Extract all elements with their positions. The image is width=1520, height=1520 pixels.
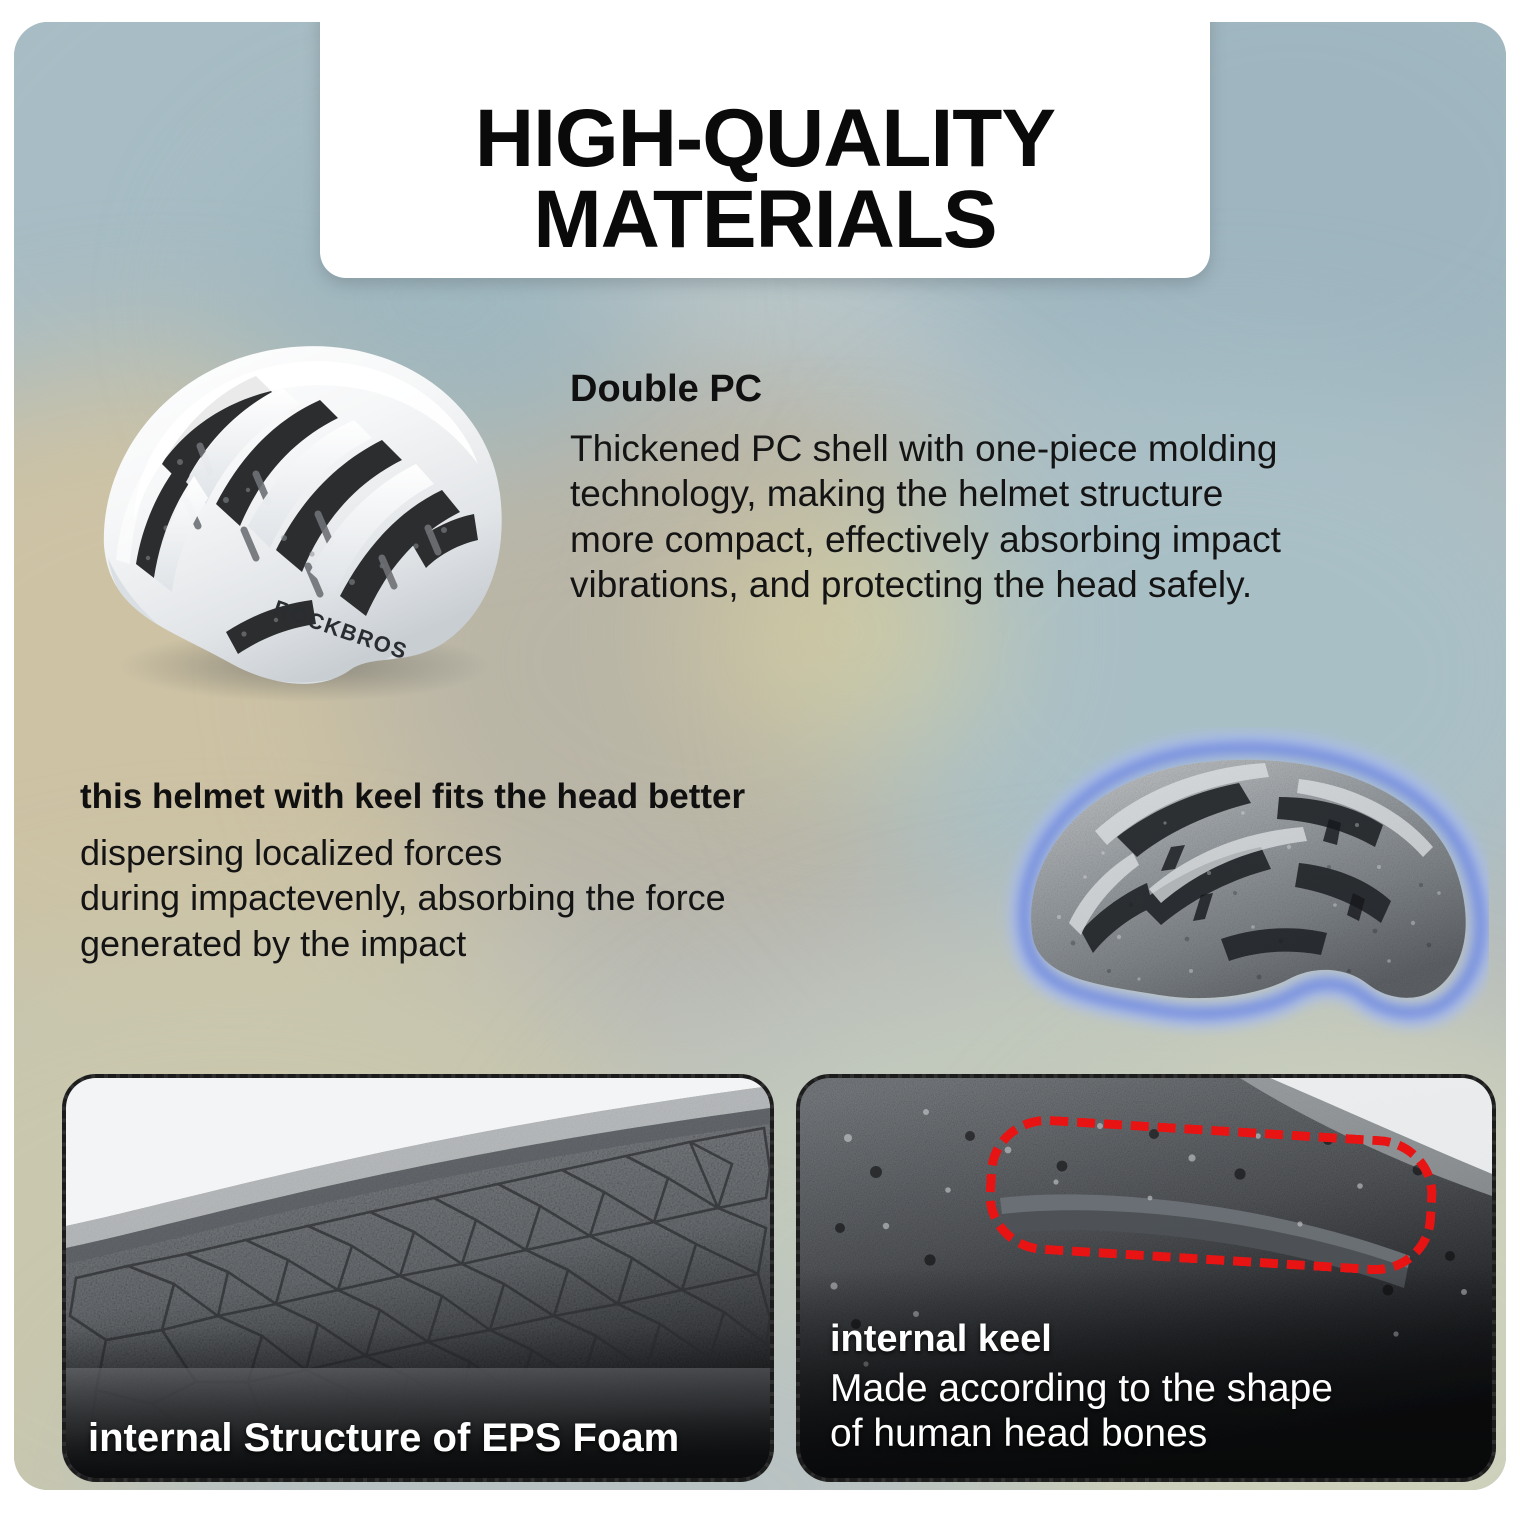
- title-banner: HIGH-QUALITY MATERIALS: [320, 22, 1210, 278]
- internal-keel-caption-body: Made according to the shape of human hea…: [830, 1366, 1333, 1456]
- internal-keel-caption-line-2: of human head bones: [830, 1411, 1333, 1456]
- panel-eps-foam: internal Structure of EPS Foam: [62, 1074, 774, 1482]
- keel-body-line-2: during impactevenly, absorbing the force: [80, 875, 980, 921]
- eps-foam-caption: internal Structure of EPS Foam: [88, 1416, 679, 1460]
- panel-internal-keel: internal keel Made according to the shap…: [796, 1074, 1496, 1482]
- double-pc-body: Thickened PC shell with one-piece moldin…: [570, 426, 1470, 608]
- keel-body: dispersing localized forces during impac…: [80, 830, 980, 967]
- keel-body-line-3: generated by the impact: [80, 921, 980, 967]
- double-pc-body-line-2: technology, making the helmet structure: [570, 471, 1470, 517]
- infographic-card: HIGH-QUALITY MATERIALS: [14, 22, 1506, 1490]
- double-pc-body-line-4: vibrations, and protecting the head safe…: [570, 562, 1470, 608]
- internal-keel-caption-title: internal keel: [830, 1318, 1333, 1362]
- keel-heading: this helmet with keel fits the head bett…: [80, 779, 980, 816]
- keel-highlight-ellipse: [982, 1112, 1440, 1277]
- white-helmet-image: ROCKBROS: [76, 314, 526, 704]
- eps-foam-caption-title: internal Structure of EPS Foam: [88, 1416, 679, 1460]
- page-title-line-1: HIGH-QUALITY: [475, 99, 1055, 179]
- page-title-line-2: MATERIALS: [533, 180, 996, 260]
- internal-keel-caption: internal keel Made according to the shap…: [830, 1318, 1333, 1456]
- double-pc-body-line-1: Thickened PC shell with one-piece moldin…: [570, 426, 1470, 472]
- double-pc-body-line-3: more compact, effectively absorbing impa…: [570, 517, 1470, 563]
- keel-text-block: this helmet with keel fits the head bett…: [80, 779, 980, 967]
- double-pc-heading: Double PC: [570, 370, 1470, 410]
- double-pc-text-block: Double PC Thickened PC shell with one-pi…: [570, 370, 1470, 608]
- eps-helmet-image: [989, 727, 1489, 1037]
- keel-body-line-1: dispersing localized forces: [80, 830, 980, 876]
- internal-keel-caption-line-1: Made according to the shape: [830, 1366, 1333, 1411]
